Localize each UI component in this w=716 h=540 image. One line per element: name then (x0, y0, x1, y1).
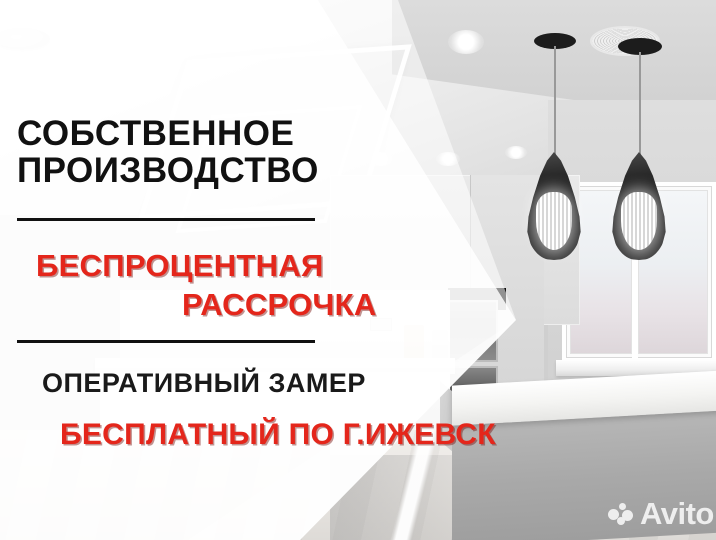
recessed-light-icon (505, 146, 527, 159)
lamp-cord (554, 46, 556, 162)
lamp-glass-diffuser (621, 192, 657, 250)
cutting-board-icon (404, 325, 424, 359)
avito-wordmark: Avito (640, 498, 714, 529)
lamp-glass-diffuser (536, 192, 572, 250)
recessed-light-icon (436, 152, 460, 166)
recessed-light-icon (448, 30, 484, 54)
backsplash (120, 290, 450, 360)
utensil-holder-icon (432, 330, 448, 359)
pendant-lamp-icon (525, 152, 583, 260)
advertisement-banner: СОБСТВЕННОЕ ПРОИЗВОДСТВО БЕСПРОЦЕНТНАЯ Р… (0, 0, 716, 540)
pendant-lamp-icon (610, 152, 668, 260)
wall-socket-icon (370, 318, 392, 331)
kitchen-photo-background (0, 0, 716, 540)
avito-dots-icon (608, 503, 634, 525)
lamp-cord (639, 52, 641, 164)
avito-watermark: Avito (608, 498, 714, 529)
